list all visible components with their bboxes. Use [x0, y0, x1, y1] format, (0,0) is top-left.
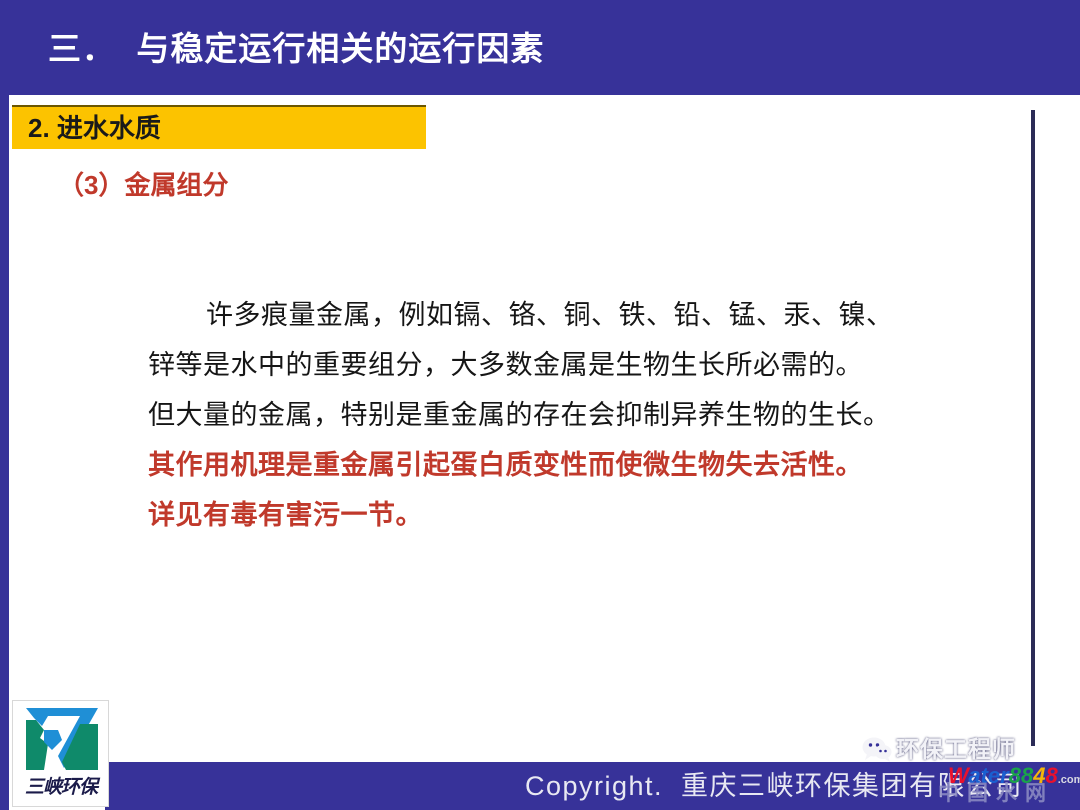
body-line: 其作用机理是重金属引起蛋白质变性而使微生物失去活性。	[148, 440, 988, 490]
logo-wordmark: 三峡环保	[17, 773, 105, 803]
page-title: 三． 与稳定运行相关的运行因素	[48, 27, 544, 71]
water8848-chinese-label: 中国水网	[938, 782, 1054, 806]
slide-canvas: 三． 与稳定运行相关的运行因素 2. 进水水质 （3）金属组分 许多痕量金属，例…	[0, 0, 1080, 810]
right-vertical-rule	[1031, 110, 1035, 746]
sub-heading: （3）金属组分	[58, 167, 228, 203]
body-line: 许多痕量金属，例如镉、铬、铜、铁、铅、锰、汞、镍、	[148, 290, 988, 340]
left-accent-rail	[0, 95, 9, 810]
wechat-icon	[862, 736, 892, 762]
water8848-domain: .com	[1058, 774, 1080, 786]
body-line: 锌等是水中的重要组分，大多数金属是生物生长所必需的。	[148, 340, 988, 390]
section-banner: 2. 进水水质	[12, 105, 426, 149]
wechat-watermark-label: 环保工程师	[896, 734, 1016, 764]
company-logo: 三峡环保	[12, 700, 109, 807]
body-line: 详见有毒有害污一节。	[148, 490, 988, 540]
body-paragraph: 许多痕量金属，例如镉、铬、铜、铁、铅、锰、汞、镍、 锌等是水中的重要组分，大多数…	[148, 290, 988, 540]
section-banner-label: 2. 进水水质	[28, 112, 161, 145]
body-line: 但大量的金属，特别是重金属的存在会抑制异养生物的生长。	[148, 390, 988, 440]
footer-copyright-bar: Copyright. 重庆三峡环保集团有限公司	[105, 762, 1080, 810]
gorge-logo-icon	[18, 704, 103, 774]
wechat-watermark: 环保工程师	[862, 732, 1072, 766]
